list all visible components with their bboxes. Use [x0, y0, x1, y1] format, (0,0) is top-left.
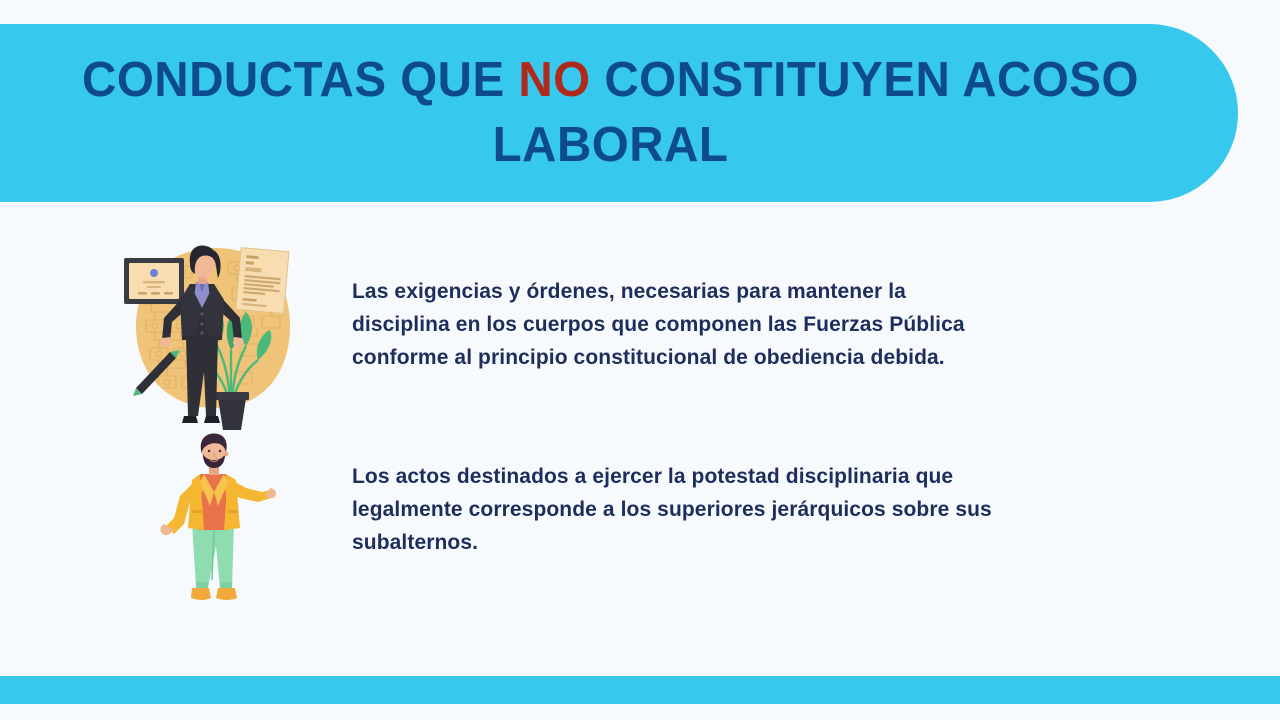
slide-canvas: CONDUCTAS QUE NO CONSTITUYEN ACOSO LABOR… [0, 0, 1280, 720]
man-gesturing-illustration [152, 430, 282, 612]
title-text-accent: NO [518, 53, 590, 107]
framed-certificate-icon [124, 258, 184, 304]
man-figure [160, 434, 276, 600]
title-text-part-1: CONDUCTAS QUE [82, 53, 518, 107]
document-paper-icon [236, 248, 289, 314]
body-paragraph-2: Los actos destinados a ejercer la potest… [352, 460, 1017, 559]
page-title: CONDUCTAS QUE NO CONSTITUYEN ACOSO LABOR… [60, 48, 1161, 177]
businesswoman-standing-illustration [112, 240, 312, 432]
title-banner: CONDUCTAS QUE NO CONSTITUYEN ACOSO LABOR… [0, 24, 1238, 202]
footer-bar [0, 676, 1280, 704]
body-paragraph-1: Las exigencias y órdenes, necesarias par… [352, 275, 1002, 374]
